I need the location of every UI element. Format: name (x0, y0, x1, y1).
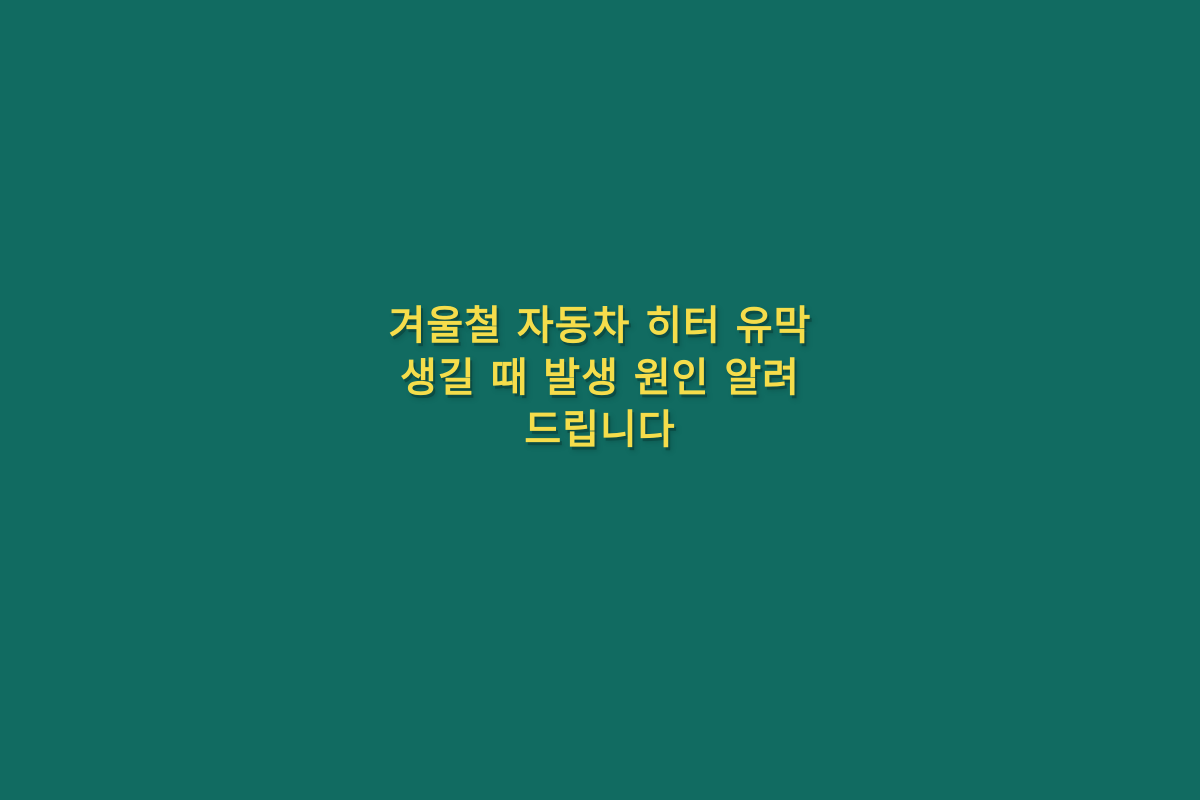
headline-container: 겨울철 자동차 히터 유막 생길 때 발생 원인 알려 드립니다 (0, 300, 1200, 456)
page-title: 겨울철 자동차 히터 유막 생길 때 발생 원인 알려 드립니다 (70, 300, 1130, 456)
headline-line-2: 생길 때 발생 원인 알려 (70, 352, 1130, 404)
headline-line-3: 드립니다 (70, 404, 1130, 456)
headline-line-1: 겨울철 자동차 히터 유막 (70, 300, 1130, 352)
banner-canvas: 겨울철 자동차 히터 유막 생길 때 발생 원인 알려 드립니다 (0, 0, 1200, 800)
